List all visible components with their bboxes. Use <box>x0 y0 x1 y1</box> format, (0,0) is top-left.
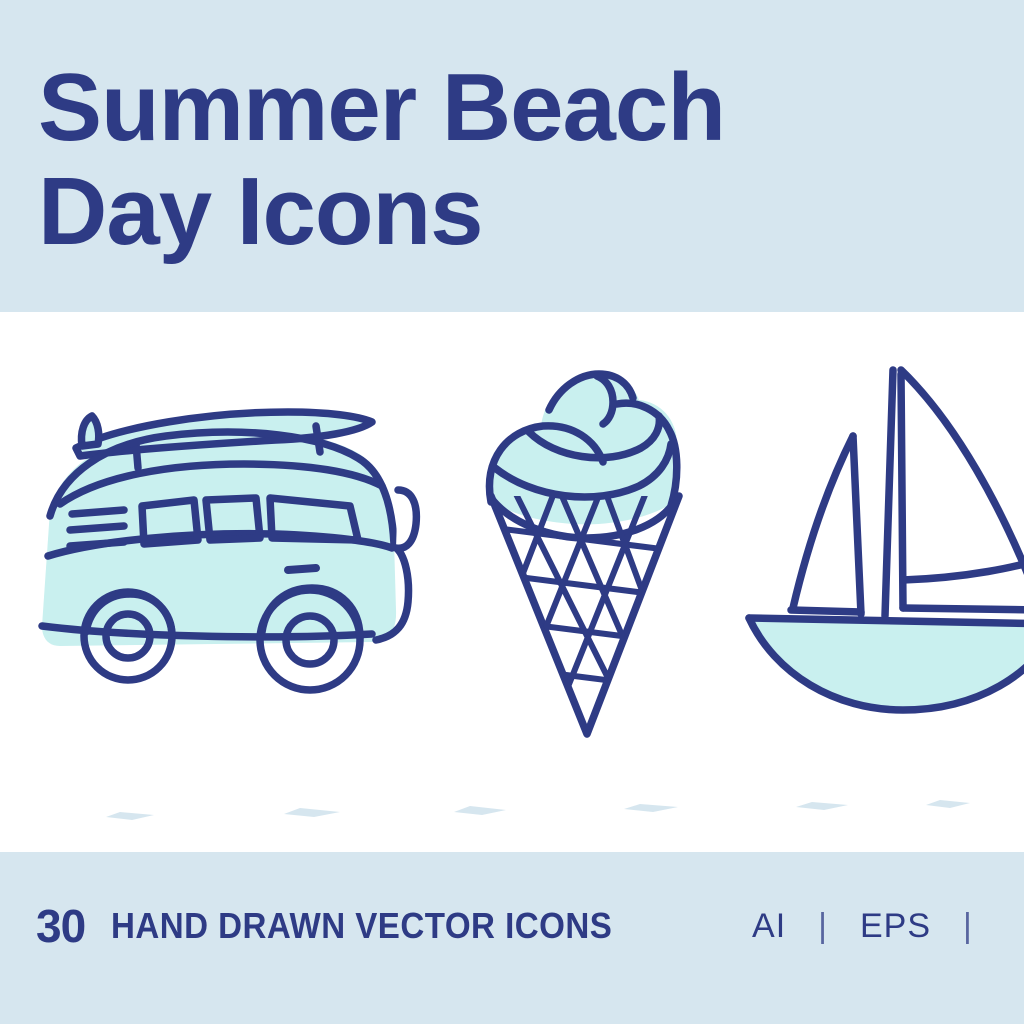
footer-tagline: HAND DRAWN VECTOR ICONS <box>111 908 612 944</box>
format-separator-2: | <box>935 909 1001 943</box>
page-title: Summer Beach Day Icons <box>38 56 938 264</box>
footer-content: 30 HAND DRAWN VECTOR ICONS AI | EPS | <box>36 900 1024 952</box>
format-separator-1: | <box>790 909 856 943</box>
icon-pack-preview: Summer Beach Day Icons <box>0 0 1024 1024</box>
header-banner: Summer Beach Day Icons <box>0 0 1024 320</box>
sailboat-icon <box>735 340 1024 810</box>
icon-ice-cream-cone[interactable] <box>455 340 715 810</box>
format-list: AI | EPS | <box>748 909 1001 943</box>
ice-cream-cone-icon <box>455 340 715 810</box>
icon-count: 30 <box>36 903 85 949</box>
icon-camper-van[interactable] <box>20 340 420 810</box>
footer-bar: 30 HAND DRAWN VECTOR ICONS AI | EPS | <box>0 852 1024 1024</box>
format-ai: AI <box>748 909 790 943</box>
icon-sailboat[interactable] <box>735 340 1024 810</box>
format-eps: EPS <box>856 909 935 943</box>
camper-van-icon <box>20 340 420 810</box>
icon-row <box>0 340 1024 810</box>
